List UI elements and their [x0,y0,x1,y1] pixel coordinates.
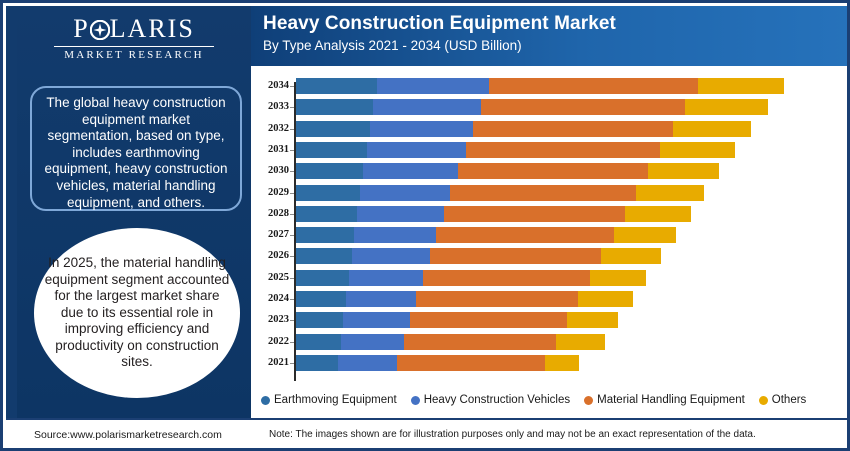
star-icon [90,17,110,37]
chart-row: 2032 [251,119,850,139]
bar-segment[interactable] [357,206,443,222]
year-axis-label: 2022 [251,332,289,352]
axis-tick [290,107,294,108]
year-axis-label: 2025 [251,268,289,288]
bar-segment[interactable] [636,185,704,201]
bar-segment[interactable] [397,355,545,371]
bar-segment[interactable] [410,312,567,328]
axis-tick [290,171,294,172]
year-axis-label: 2024 [251,289,289,309]
axis-tick [290,150,294,151]
axis-tick [290,193,294,194]
bar-segment[interactable] [377,78,489,94]
chart-row: 2027 [251,225,850,245]
legend-color-swatch [584,396,593,405]
bar-segment[interactable] [370,121,473,137]
chart-row: 2021 [251,353,850,373]
bar-segment[interactable] [373,99,481,115]
bar-segment[interactable] [590,270,646,286]
bar-segment[interactable] [458,163,648,179]
year-axis-label: 2034 [251,76,289,96]
legend-color-swatch [261,396,270,405]
logo-text-olaris: LARIS [110,14,195,43]
bar-segment[interactable] [338,355,397,371]
footer: Source:www.polarismarketresearch.com Not… [6,420,850,451]
axis-tick [290,299,294,300]
bar-segment[interactable] [296,270,349,286]
bar-segment[interactable] [685,99,768,115]
year-axis-label: 2029 [251,183,289,203]
bar-segment[interactable] [360,185,450,201]
axis-tick [290,256,294,257]
bar-segment[interactable] [296,291,346,307]
bar-segment[interactable] [352,248,430,264]
logo-tagline: MARKET RESEARCH [17,49,251,62]
infographic-root: P LARIS MARKET RESEARCH The global heavy… [0,0,850,451]
bar-segment[interactable] [296,248,352,264]
bar-segment[interactable] [625,206,690,222]
year-axis-label: 2027 [251,225,289,245]
chart-row: 2024 [251,289,850,309]
bar-segment[interactable] [444,206,626,222]
bar-segment[interactable] [343,312,409,328]
bar-segment[interactable] [404,334,556,350]
chart-row: 2025 [251,268,850,288]
bar-segment[interactable] [601,248,661,264]
logo-divider [54,46,214,47]
year-axis-label: 2033 [251,97,289,117]
chart-row: 2030 [251,161,850,181]
bar-segment[interactable] [296,227,354,243]
legend-item[interactable]: Heavy Construction Vehicles [411,394,570,406]
bar-segment[interactable] [296,142,367,158]
left-panel: P LARIS MARKET RESEARCH The global heavy… [6,6,251,418]
bar-segment[interactable] [545,355,579,371]
bar-segment[interactable] [698,78,784,94]
page-title: Heavy Construction Equipment Market [263,12,850,36]
page-subtitle: By Type Analysis 2021 - 2034 (USD Billio… [263,36,850,56]
bar-segment[interactable] [466,142,660,158]
bar-segment[interactable] [430,248,602,264]
axis-tick [290,320,294,321]
stacked-bar[interactable] [296,355,579,371]
legend-label: Material Handling Equipment [597,394,745,406]
legend-label: Heavy Construction Vehicles [424,394,570,406]
axis-tick [290,342,294,343]
bar-segment[interactable] [296,312,343,328]
year-axis-label: 2021 [251,353,289,373]
chart-row: 2026 [251,246,850,266]
bar-segment[interactable] [296,355,338,371]
bar-segment[interactable] [363,163,458,179]
stacked-bar[interactable] [296,206,691,222]
stacked-bar[interactable] [296,248,661,264]
bar-segment[interactable] [660,142,735,158]
axis-tick [290,278,294,279]
bar-segment[interactable] [423,270,590,286]
legend-item[interactable]: Others [759,394,807,406]
year-axis-label: 2031 [251,140,289,160]
source-label: Source:www.polarismarketresearch.com [34,429,222,441]
bar-segment[interactable] [567,312,618,328]
bar-segment[interactable] [614,227,676,243]
chart-row: 2034 [251,76,850,96]
stacked-bar[interactable] [296,185,704,201]
axis-tick [290,363,294,364]
bar-segment[interactable] [416,291,578,307]
stacked-bar[interactable] [296,312,618,328]
bar-segment[interactable] [481,99,685,115]
axis-tick [290,235,294,236]
logo-wordmark: P LARIS [17,14,251,44]
chart-row: 2033 [251,97,850,117]
stacked-bar[interactable] [296,270,646,286]
header-band: Heavy Construction Equipment Market By T… [251,6,850,66]
bar-segment[interactable] [296,121,370,137]
legend-color-swatch [411,396,420,405]
bar-segment[interactable] [556,334,605,350]
legend-item[interactable]: Earthmoving Equipment [261,394,397,406]
stacked-bar[interactable] [296,334,605,350]
year-axis-label: 2032 [251,119,289,139]
stacked-bar[interactable] [296,121,751,137]
legend-label: Earthmoving Equipment [274,394,397,406]
bar-segment[interactable] [648,163,719,179]
chart-row: 2029 [251,183,850,203]
callout-circle-insight: In 2025, the material handling equipment… [34,228,240,398]
callout-box-segmentation: The global heavy construction equipment … [30,86,242,211]
bar-segment[interactable] [673,121,751,137]
stacked-bar[interactable] [296,163,719,179]
legend-color-swatch [759,396,768,405]
chart-row: 2022 [251,332,850,352]
logo-text-p: P [73,14,89,43]
bar-segment[interactable] [346,291,416,307]
bar-segment[interactable] [349,270,423,286]
bar-segment[interactable] [296,99,373,115]
chart-legend: Earthmoving EquipmentHeavy Construction … [261,391,850,409]
legend-label: Others [772,394,807,406]
bar-segment[interactable] [296,185,360,201]
bar-segment[interactable] [367,142,466,158]
stacked-bar[interactable] [296,78,784,94]
bar-segment[interactable] [354,227,436,243]
year-axis-label: 2026 [251,246,289,266]
bar-segment[interactable] [489,78,698,94]
chart-panel: 2034203320322031203020292028202720262025… [251,66,850,418]
stacked-bar[interactable] [296,99,768,115]
chart-row: 2028 [251,204,850,224]
disclaimer-note: Note: The images shown are for illustrat… [269,429,756,440]
bar-segment[interactable] [436,227,613,243]
bar-segment[interactable] [473,121,672,137]
bar-segment[interactable] [296,78,377,94]
bar-segment[interactable] [341,334,404,350]
bar-segment[interactable] [296,334,341,350]
stacked-bar[interactable] [296,142,735,158]
bar-segment[interactable] [578,291,633,307]
legend-item[interactable]: Material Handling Equipment [584,394,745,406]
bar-segment[interactable] [450,185,636,201]
axis-tick [290,214,294,215]
bar-segment[interactable] [296,206,357,222]
stacked-bar-chart: 2034203320322031203020292028202720262025… [251,74,850,384]
stacked-bar[interactable] [296,291,633,307]
bar-segment[interactable] [296,163,363,179]
polaris-logo: P LARIS MARKET RESEARCH [17,14,251,72]
chart-row: 2023 [251,310,850,330]
chart-row: 2031 [251,140,850,160]
year-axis-label: 2028 [251,204,289,224]
callout-circle-text: In 2025, the material handling equipment… [42,255,232,371]
axis-tick [290,86,294,87]
year-axis-label: 2023 [251,310,289,330]
axis-tick [290,129,294,130]
year-axis-label: 2030 [251,161,289,181]
stacked-bar[interactable] [296,227,676,243]
